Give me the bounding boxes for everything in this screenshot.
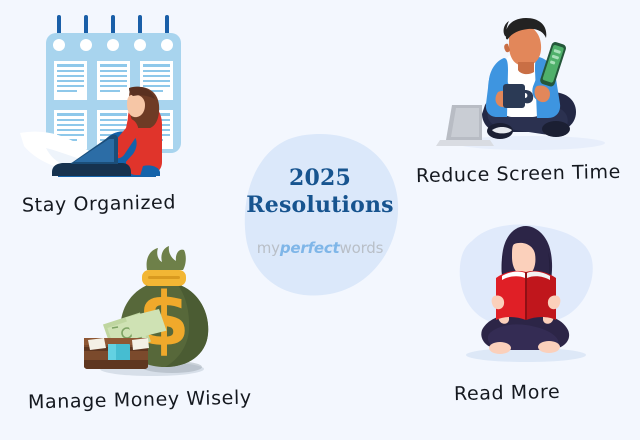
label-stay-organized: Stay Organized [22,191,176,216]
label-reduce-screen-time: Reduce Screen Time [416,161,621,187]
coffee-mug-icon [503,84,525,108]
label-read-more: Read More [454,381,561,405]
wallet-icon [84,338,149,369]
book-icon [496,271,556,320]
shoe-right [542,121,570,137]
brand-logo: myperfectwords [240,239,400,257]
foot-left [489,342,511,354]
title-word: Resolutions [240,192,400,219]
center-content: 2025 Resolutions myperfectwords [240,165,400,257]
label-manage-money-wisely: Manage Money Wisely [28,387,252,414]
title-year: 2025 [240,165,400,192]
logo-part-words: words [340,239,384,257]
page-title: 2025 Resolutions [240,165,400,219]
logo-part-my: my [257,239,280,257]
reading-shadow [466,348,586,362]
foot-right [538,341,560,353]
logo-part-perfect: perfect [280,239,340,257]
